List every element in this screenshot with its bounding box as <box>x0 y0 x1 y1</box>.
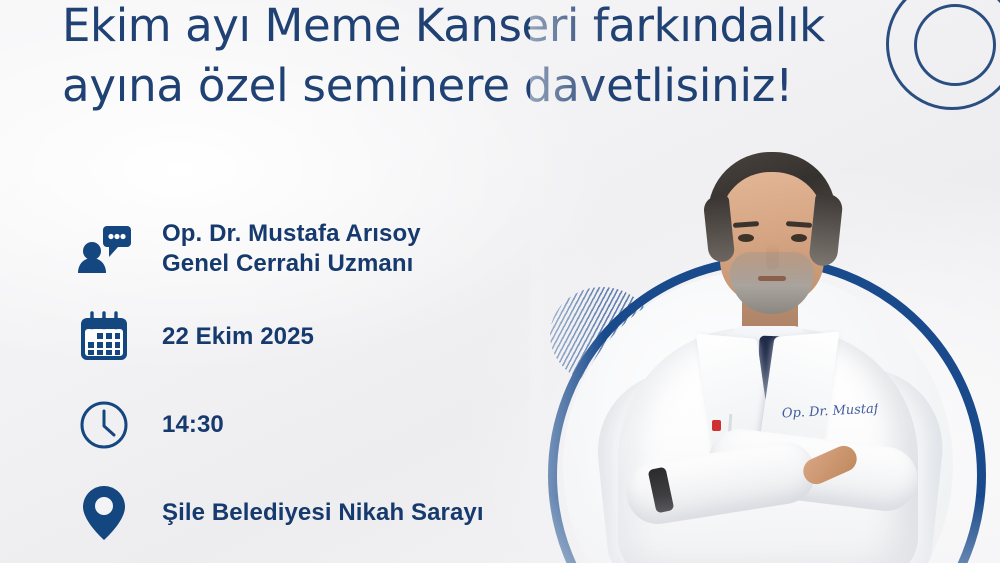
location-pin-icon <box>72 484 136 542</box>
time-text: 14:30 <box>136 410 224 440</box>
eye-left <box>738 234 754 242</box>
clock-icon <box>72 399 136 451</box>
hair-side-right <box>808 193 843 268</box>
doctor-portrait: Op. Dr. Mustafa Arısoy <box>530 0 1000 563</box>
event-venue: Şile Belediyesi Nikah Sarayı <box>162 499 484 526</box>
event-date: 22 Ekim 2025 <box>162 323 314 350</box>
eye-right <box>791 234 807 242</box>
speaker-name: Op. Dr. Mustafa Arısoy <box>162 220 421 247</box>
speaker-title: Genel Cerrahi Uzmanı <box>162 249 421 279</box>
detail-row-speaker: Op. Dr. Mustafa Arısoy Genel Cerrahi Uzm… <box>72 205 542 293</box>
date-text: 22 Ekim 2025 <box>136 322 314 352</box>
doctor-photo-panel: Op. Dr. Mustafa Arısoy <box>530 0 1000 563</box>
speaker-text: Op. Dr. Mustafa Arısoy Genel Cerrahi Uzm… <box>136 219 421 279</box>
speaker-person-icon <box>72 224 136 274</box>
detail-row-date: 22 Ekim 2025 <box>72 293 542 381</box>
mouth <box>758 276 786 281</box>
calendar-icon <box>72 310 136 364</box>
detail-row-time: 14:30 <box>72 381 542 469</box>
coat-badge-1 <box>712 420 721 431</box>
location-text: Şile Belediyesi Nikah Sarayı <box>136 498 484 528</box>
seminar-announcement-poster: Ekim ayı Meme Kanseri farkındalık ayına … <box>0 0 1000 563</box>
event-details-list: Op. Dr. Mustafa Arısoy Genel Cerrahi Uzm… <box>72 205 542 557</box>
event-time: 14:30 <box>162 411 224 438</box>
detail-row-location: Şile Belediyesi Nikah Sarayı <box>72 469 542 557</box>
